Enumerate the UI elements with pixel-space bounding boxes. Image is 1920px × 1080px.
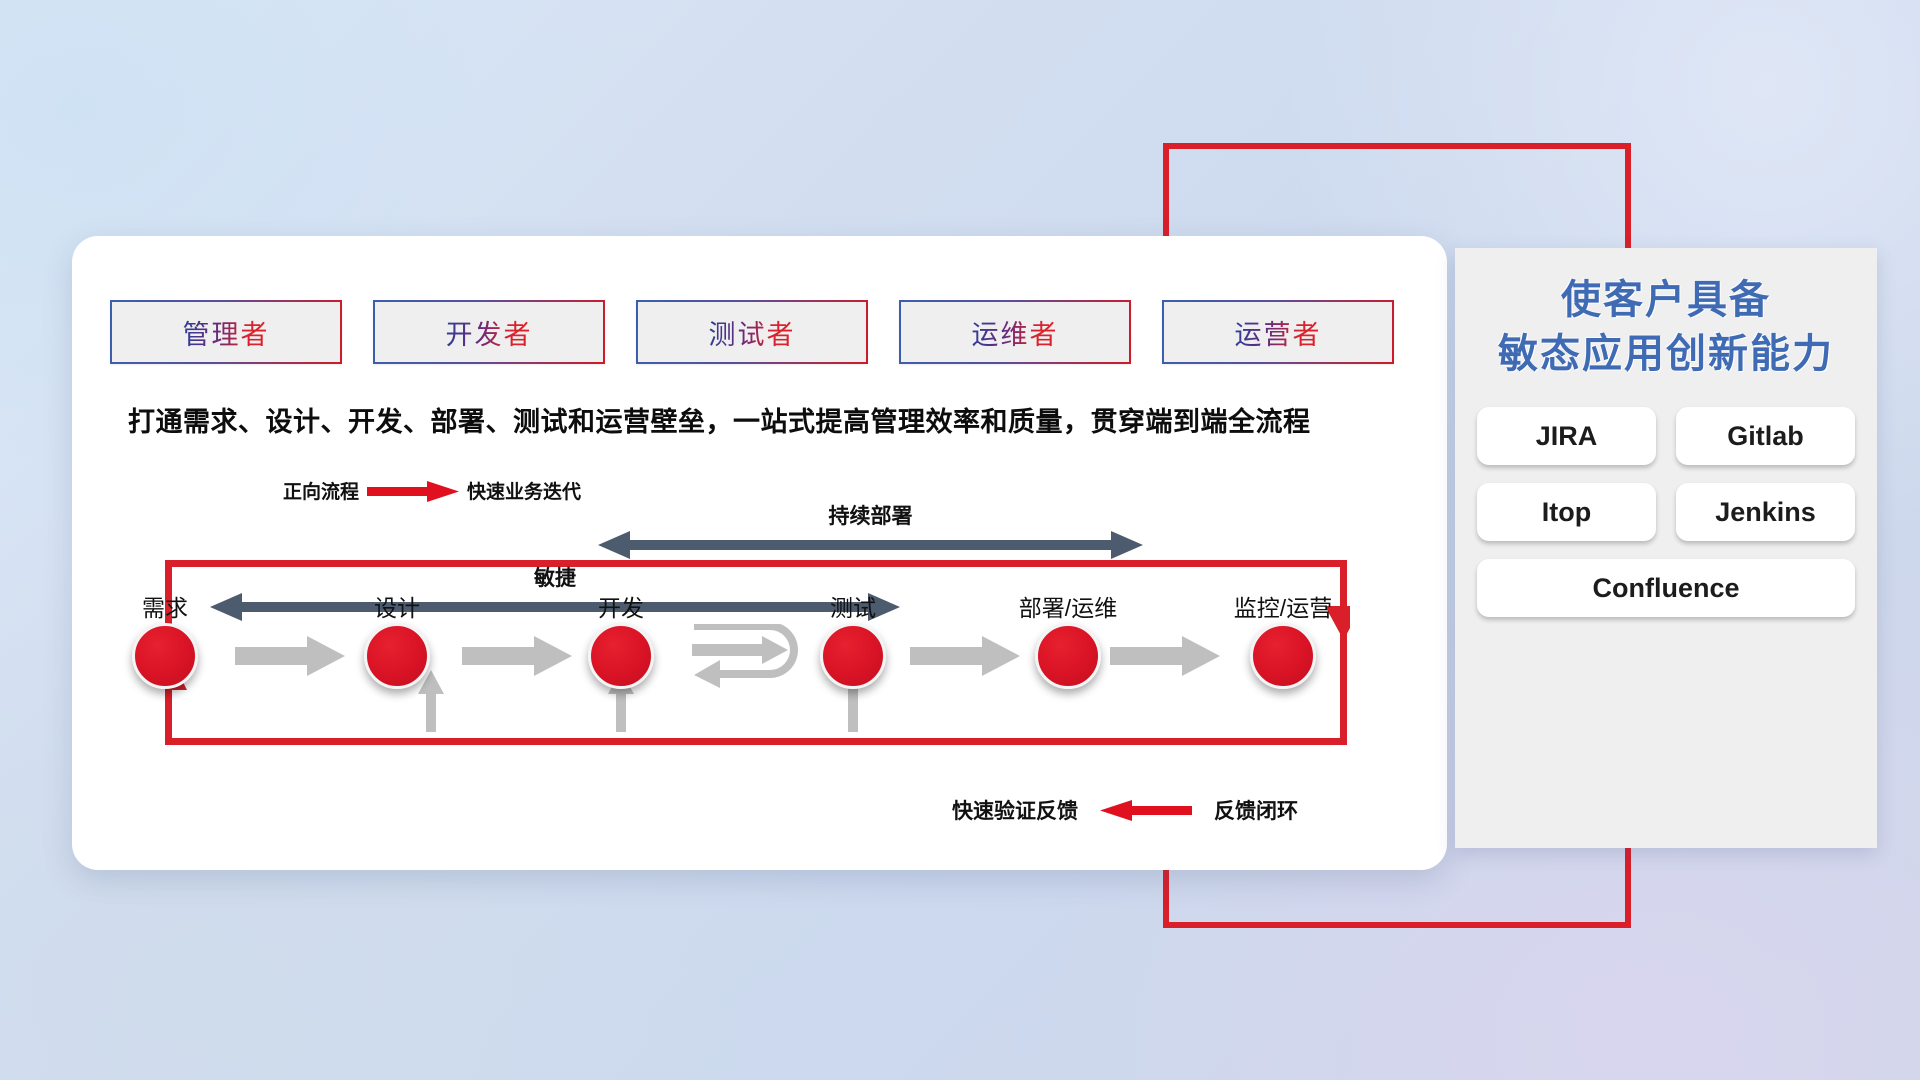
role-box-row: 管理者 开发者 测试者 运维者 运营者 — [110, 300, 1394, 364]
role-box-manager[interactable]: 管理者 — [110, 300, 342, 364]
forward-flow-legend: 正向流程 快速业务迭代 — [283, 477, 581, 504]
role-box-tester[interactable]: 测试者 — [636, 300, 868, 364]
pipeline-node-development[interactable]: 开发 — [588, 623, 654, 689]
node-dot — [132, 623, 198, 689]
node-label: 开发 — [598, 589, 644, 623]
role-label: 测试者 — [709, 313, 796, 352]
tool-pill-confluence[interactable]: Confluence — [1477, 559, 1855, 617]
gray-right-arrow-icon — [235, 636, 345, 676]
node-label: 监控/运营 — [1234, 589, 1332, 623]
red-right-arrow-icon — [367, 479, 459, 503]
pipeline-node-monitor-operations[interactable]: 监控/运营 — [1250, 623, 1316, 689]
red-left-arrow-icon — [1100, 798, 1192, 822]
forward-flow-label-left: 正向流程 — [283, 477, 359, 504]
continuous-deployment-label: 持续部署 — [598, 500, 1143, 530]
role-box-operations[interactable]: 运营者 — [1162, 300, 1394, 364]
node-dot — [820, 623, 886, 689]
continuous-deployment-group: 持续部署 — [598, 500, 1143, 565]
feedback-label-right: 反馈闭环 — [1214, 795, 1298, 825]
feedback-caption: 快速验证反馈 反馈闭环 — [952, 795, 1298, 825]
role-label: 运营者 — [1235, 313, 1322, 352]
node-dot — [364, 623, 430, 689]
pipeline-node-deploy-ops[interactable]: 部署/运维 — [1035, 623, 1101, 689]
loop-back-arrow-icon — [692, 624, 810, 688]
role-label: 管理者 — [183, 313, 270, 352]
forward-flow-label-right: 快速业务迭代 — [467, 477, 581, 504]
agile-label: 敏捷 — [210, 562, 900, 592]
side-panel-title-line1: 使客户具备 — [1455, 274, 1877, 328]
role-box-developer[interactable]: 开发者 — [373, 300, 605, 364]
gray-right-arrow-icon — [462, 636, 572, 676]
side-panel: 使客户具备 敏态应用创新能力 JIRA Gitlab Itop Jenkins … — [1455, 248, 1877, 848]
side-panel-title-line2: 敏态应用创新能力 — [1455, 328, 1877, 382]
pipeline-node-design[interactable]: 设计 — [364, 623, 430, 689]
node-label: 部署/运维 — [1019, 589, 1117, 623]
node-label: 设计 — [374, 589, 420, 623]
tool-list: JIRA Gitlab Itop Jenkins Confluence — [1477, 407, 1855, 617]
pipeline-node-requirements[interactable]: 需求 — [132, 623, 198, 689]
node-dot — [1035, 623, 1101, 689]
feedback-label-left: 快速验证反馈 — [952, 795, 1078, 825]
tool-pill-itop[interactable]: Itop — [1477, 483, 1656, 541]
node-dot — [588, 623, 654, 689]
headline-text: 打通需求、设计、开发、部署、测试和运营壁垒，一站式提高管理效率和质量，贯穿端到端… — [128, 400, 1418, 439]
node-label: 需求 — [142, 589, 188, 623]
tool-pill-gitlab[interactable]: Gitlab — [1676, 407, 1855, 465]
role-label: 运维者 — [972, 313, 1059, 352]
node-dot — [1250, 623, 1316, 689]
node-label: 测试 — [830, 589, 876, 623]
side-panel-title: 使客户具备 敏态应用创新能力 — [1455, 274, 1877, 381]
gray-right-arrow-icon — [1110, 636, 1220, 676]
gray-right-arrow-icon — [910, 636, 1020, 676]
role-label: 开发者 — [446, 313, 533, 352]
pipeline: 需求 设计 开发 测试 部署/运维 监控/运营 — [110, 610, 1440, 770]
pipeline-node-testing[interactable]: 测试 — [820, 623, 886, 689]
role-box-ops[interactable]: 运维者 — [899, 300, 1131, 364]
tool-pill-jira[interactable]: JIRA — [1477, 407, 1656, 465]
tool-pill-jenkins[interactable]: Jenkins — [1676, 483, 1855, 541]
double-headed-arrow-icon — [598, 530, 1143, 560]
